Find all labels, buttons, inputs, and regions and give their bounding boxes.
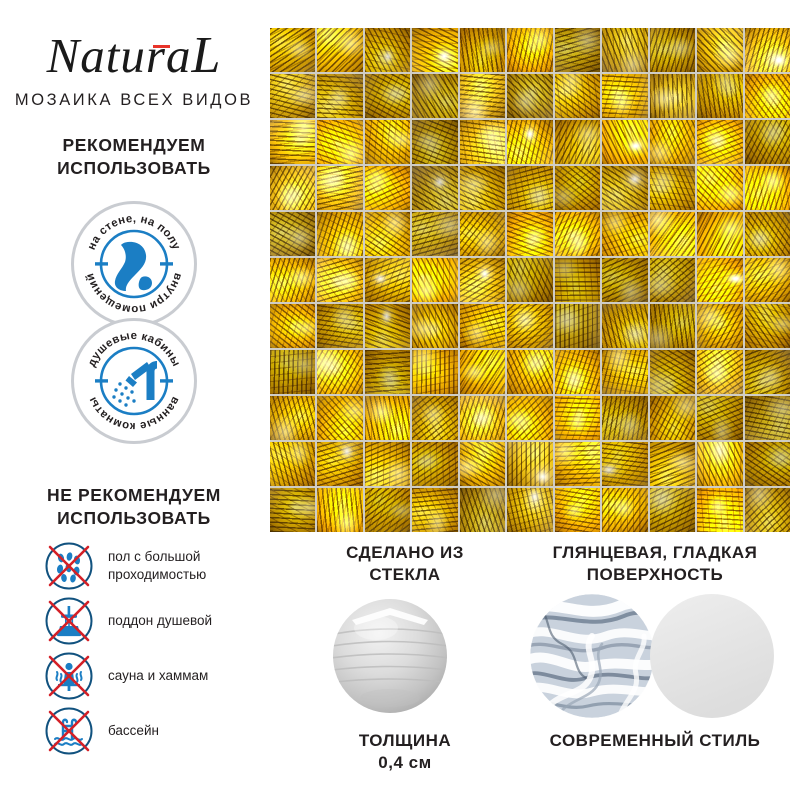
mosaic-tile [365, 166, 410, 210]
mosaic-tile [460, 74, 505, 118]
mosaic-tile [555, 166, 600, 210]
feature-glass-title-line1: СДЕЛАНО ИЗ [280, 542, 530, 564]
mosaic-tile [602, 28, 647, 72]
mosaic-tile [745, 28, 790, 72]
mosaic-tile [270, 120, 315, 164]
sauna-steam-icon [44, 651, 94, 701]
mosaic-tile [650, 258, 695, 302]
mosaic-tile [697, 120, 742, 164]
mosaic-tile [650, 304, 695, 348]
not-recommended-heading-line2: ИСПОЛЬЗОВАТЬ [0, 507, 268, 530]
mosaic-tile [507, 304, 552, 348]
infographic-page: NaturaL МОЗАИКА ВСЕХ ВИДОВ РЕКОМЕНДУЕМ И… [0, 0, 800, 800]
mosaic-tile [365, 488, 410, 532]
mosaic-tile [745, 396, 790, 440]
mosaic-tile [555, 304, 600, 348]
mosaic-tile [650, 166, 695, 210]
mosaic-tile [412, 442, 457, 486]
mosaic-tile [460, 488, 505, 532]
mosaic-tile [697, 396, 742, 440]
not-recommended-heading-line1: НЕ РЕКОМЕНДУЕМ [0, 484, 268, 507]
list-item: поддон душевой [44, 593, 274, 648]
mosaic-tile [555, 396, 600, 440]
mosaic-tile [460, 28, 505, 72]
mosaic-tile [460, 350, 505, 394]
mosaic-tile [745, 120, 790, 164]
list-item-label-line1: бассейн [108, 722, 159, 739]
mosaic-tile [270, 166, 315, 210]
mosaic-tile [507, 442, 552, 486]
mosaic-tile [602, 350, 647, 394]
mosaic-tile [317, 304, 362, 348]
feature-surface-title-line1: ГЛЯНЦЕВАЯ, ГЛАДКАЯ [520, 542, 790, 564]
mosaic-tile [697, 166, 742, 210]
mosaic-tile [602, 442, 647, 486]
mosaic-tile [317, 212, 362, 256]
mosaic-tile [745, 74, 790, 118]
product-mosaic-image [270, 28, 790, 532]
mosaic-tile [507, 488, 552, 532]
mosaic-tile [365, 350, 410, 394]
mosaic-tile [602, 120, 647, 164]
list-item: сауна и хаммам [44, 648, 274, 703]
mosaic-tile [412, 258, 457, 302]
mosaic-tile [745, 212, 790, 256]
badge-shower-bathroom: душевые кабины ванные комнаты [71, 318, 197, 444]
mosaic-tile [555, 74, 600, 118]
mosaic-tile [270, 442, 315, 486]
mosaic-tile [317, 28, 362, 72]
mosaic-tile [697, 212, 742, 256]
list-item-label-line2: проходимостью [108, 566, 206, 583]
mosaic-tile [270, 488, 315, 532]
mosaic-tile [412, 350, 457, 394]
plain-surface-circle [650, 594, 774, 718]
mosaic-tile [365, 120, 410, 164]
mosaic-tile [650, 488, 695, 532]
recommended-heading: РЕКОМЕНДУЕМ ИСПОЛЬЗОВАТЬ [0, 134, 268, 180]
list-item-label: поддон душевой [108, 612, 212, 629]
mosaic-tile [602, 212, 647, 256]
mosaic-tile [270, 258, 315, 302]
mosaic-tile [412, 212, 457, 256]
mosaic-tile [317, 258, 362, 302]
mosaic-tile [602, 74, 647, 118]
brand-name: NaturaL [47, 30, 222, 82]
mosaic-tile [412, 166, 457, 210]
mosaic-tile [555, 258, 600, 302]
mosaic-tile [745, 488, 790, 532]
mosaic-tile [697, 488, 742, 532]
mosaic-tile [317, 396, 362, 440]
shower-tray-icon [44, 596, 94, 646]
mosaic-tile [650, 74, 695, 118]
mosaic-tile [412, 304, 457, 348]
mosaic-tile [745, 166, 790, 210]
frosted-glass-sphere-icon [328, 594, 452, 718]
mosaic-tile [317, 442, 362, 486]
feature-thickness-title-line1: ТОЛЩИНА [285, 730, 525, 752]
logo-red-accent-bar [153, 45, 170, 48]
mosaic-tile [555, 28, 600, 72]
list-item-label-line1: сауна и хаммам [108, 667, 208, 684]
mosaic-tile [507, 120, 552, 164]
mosaic-tile [602, 258, 647, 302]
mosaic-tile [507, 350, 552, 394]
feature-glass-title-line2: СТЕКЛА [280, 564, 530, 586]
feature-surface-title-line2: ПОВЕРХНОСТЬ [520, 564, 790, 586]
mosaic-tile [650, 442, 695, 486]
mosaic-tile [460, 212, 505, 256]
mosaic-tile [365, 212, 410, 256]
mosaic-tile [317, 166, 362, 210]
badge-indoor-use: на стене, на полу внутри помещений [71, 201, 197, 327]
mosaic-tile [317, 120, 362, 164]
mosaic-tile [650, 212, 695, 256]
mosaic-tile [555, 442, 600, 486]
mosaic-tile [270, 350, 315, 394]
brand-logo: NaturaL МОЗАИКА ВСЕХ ВИДОВ [0, 30, 268, 110]
list-item: бассейн [44, 703, 274, 758]
mosaic-tile [507, 166, 552, 210]
feature-thickness-value: 0,4 см [285, 752, 525, 774]
mosaic-tile [270, 74, 315, 118]
mosaic-tile [555, 120, 600, 164]
mosaic-tile [270, 304, 315, 348]
footprints-traffic-icon [44, 541, 94, 591]
mosaic-tile [412, 120, 457, 164]
mosaic-tile [365, 74, 410, 118]
mosaic-tile [507, 28, 552, 72]
mosaic-tile [365, 396, 410, 440]
mosaic-tile [555, 488, 600, 532]
brand-name-main: Natura [47, 28, 192, 83]
mosaic-tile [602, 396, 647, 440]
mosaic-tile [745, 258, 790, 302]
mosaic-tile [745, 442, 790, 486]
list-item-label: сауна и хаммам [108, 667, 208, 684]
not-recommended-heading: НЕ РЕКОМЕНДУЕМ ИСПОЛЬЗОВАТЬ [0, 484, 268, 530]
mosaic-tile [697, 28, 742, 72]
mosaic-tile [460, 120, 505, 164]
mosaic-tile [317, 350, 362, 394]
mosaic-tile [460, 166, 505, 210]
mosaic-tile [697, 74, 742, 118]
brand-name-last: L [191, 27, 221, 84]
mosaic-tile [365, 28, 410, 72]
mosaic-tile [412, 488, 457, 532]
mosaic-tile [602, 304, 647, 348]
mosaic-tile [650, 396, 695, 440]
brand-tagline: МОЗАИКА ВСЕХ ВИДОВ [0, 91, 268, 110]
not-recommended-list: пол с большой проходимостью [44, 538, 274, 758]
mosaic-tile [745, 350, 790, 394]
mosaic-tile [507, 74, 552, 118]
mosaic-tile [745, 304, 790, 348]
mosaic-tile [460, 258, 505, 302]
mosaic-tile [317, 74, 362, 118]
swimming-pool-icon [44, 706, 94, 756]
mosaic-tile [270, 212, 315, 256]
feature-style-title-line1: СОВРЕМЕННЫЙ СТИЛЬ [520, 730, 790, 752]
list-item-label: бассейн [108, 722, 159, 739]
mosaic-tile [650, 120, 695, 164]
mosaic-tile [555, 350, 600, 394]
mosaic-tile [697, 350, 742, 394]
marble-texture [528, 594, 664, 720]
list-item-label: пол с большой проходимостью [108, 548, 206, 583]
mosaic-tile [507, 396, 552, 440]
mosaic-tile [460, 442, 505, 486]
recommended-heading-line1: РЕКОМЕНДУЕМ [0, 134, 268, 157]
mosaic-tile [270, 396, 315, 440]
mosaic-tile [650, 350, 695, 394]
list-item-label-line1: поддон душевой [108, 612, 212, 629]
list-item-label-line1: пол с большой [108, 548, 206, 565]
mosaic-tile [412, 74, 457, 118]
list-item: пол с большой проходимостью [44, 538, 274, 593]
mosaic-tile [650, 28, 695, 72]
mosaic-tile [460, 396, 505, 440]
feature-style-title: СОВРЕМЕННЫЙ СТИЛЬ [520, 730, 790, 752]
feature-glass-title: СДЕЛАНО ИЗ СТЕКЛА [280, 542, 530, 587]
mosaic-tile [460, 304, 505, 348]
mosaic-tile [697, 442, 742, 486]
mosaic-tile [270, 28, 315, 72]
mosaic-tile [412, 28, 457, 72]
mosaic-tile [555, 212, 600, 256]
recommended-heading-line2: ИСПОЛЬЗОВАТЬ [0, 157, 268, 180]
marble-swirl-circles-icon [528, 592, 776, 720]
mosaic-tile [697, 304, 742, 348]
mosaic-tile [365, 304, 410, 348]
mosaic-tile [602, 166, 647, 210]
mosaic-tile [365, 442, 410, 486]
mosaic-tile [602, 488, 647, 532]
mosaic-tile [317, 488, 362, 532]
mosaic-tile [365, 258, 410, 302]
mosaic-tile [507, 258, 552, 302]
feature-surface-title: ГЛЯНЦЕВАЯ, ГЛАДКАЯ ПОВЕРХНОСТЬ [520, 542, 790, 587]
mosaic-tile [412, 396, 457, 440]
feature-thickness-title: ТОЛЩИНА 0,4 см [285, 730, 525, 775]
mosaic-tile [697, 258, 742, 302]
mosaic-tile [507, 212, 552, 256]
